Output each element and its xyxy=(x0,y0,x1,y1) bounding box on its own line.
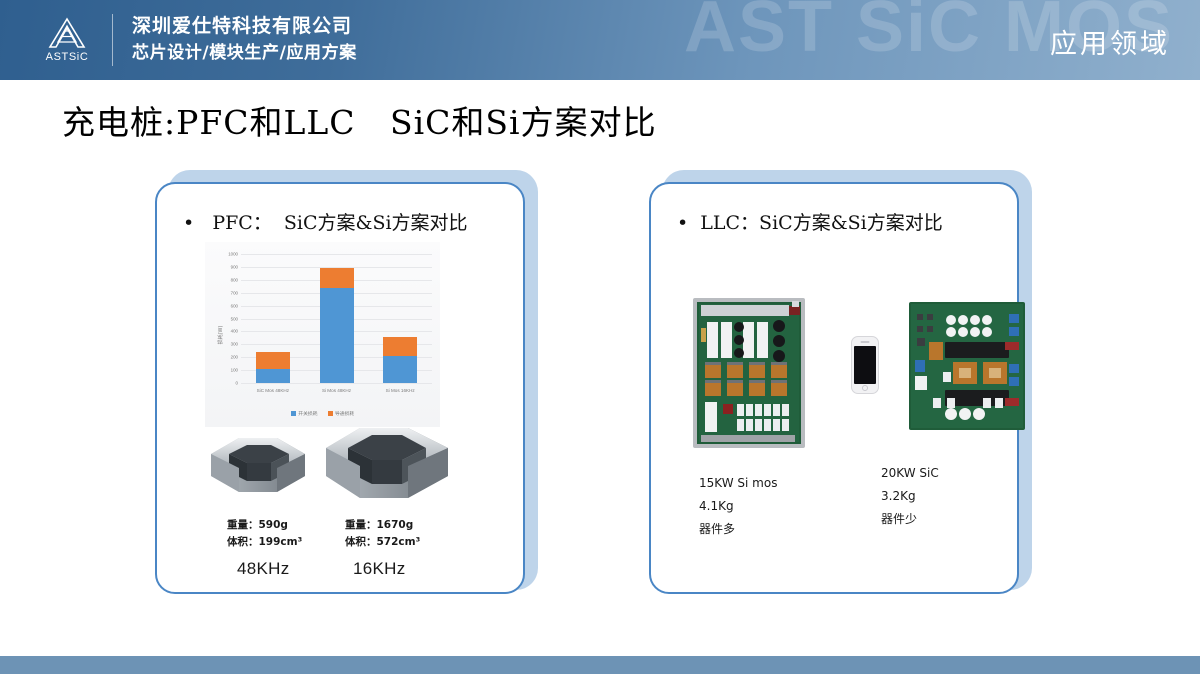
chart-ytick: 700 xyxy=(231,290,238,295)
core-large-volume: 体积：572cm³ xyxy=(345,534,420,550)
chart-ytick: 100 xyxy=(231,368,238,373)
si-board-power: 15KW Si mos xyxy=(699,472,777,495)
chart-bar-segment-conduction xyxy=(320,268,354,287)
chart-bar xyxy=(383,337,417,383)
sic-board-image xyxy=(909,302,1025,430)
company-name: 深圳爱仕特科技有限公司 xyxy=(132,13,357,41)
company-logo: ASTSiC xyxy=(36,10,98,70)
si-board-caption: 15KW Si mos 4.1Kg 器件多 xyxy=(699,472,777,540)
chart-bar-segment-conduction xyxy=(383,337,417,356)
slide-title: 充电桩:PFC和LLC SiC和Si方案对比 xyxy=(62,96,657,144)
page-header: AST SiC MOS ASTSiC 深圳爱仕特科技有限公司 芯片设计/模块生产… xyxy=(0,0,1200,80)
chart-bars: SiC Mos 48KHz Si Mos 48KHz Si Mos 16KHz xyxy=(241,254,432,383)
left-card-bullet: • PFC： SiC方案&Si方案对比 xyxy=(183,208,468,235)
right-card-llc[interactable]: • LLC：SiC方案&Si方案对比 xyxy=(649,182,1019,594)
company-info: 深圳爱仕特科技有限公司 芯片设计/模块生产/应用方案 xyxy=(132,13,357,65)
core-small-weight: 重量：590g xyxy=(227,517,288,533)
ferrite-core-large-image xyxy=(312,412,462,520)
section-title: 应用领域 xyxy=(1050,22,1170,61)
chart-bar-segment-switching xyxy=(320,288,354,383)
chart-ytick: 300 xyxy=(231,342,238,347)
chart-bar-segment-conduction xyxy=(256,352,290,369)
chart-ytick: 500 xyxy=(231,316,238,321)
chart-y-axis-label: 损耗(W) xyxy=(217,325,224,344)
chart-bar xyxy=(256,352,290,383)
sic-board-caption: 20KW SiC 3.2Kg 器件少 xyxy=(881,462,939,530)
si-mos-board-image xyxy=(693,292,805,450)
ast-triangle-logo-icon xyxy=(47,17,87,49)
phone-screen xyxy=(854,346,876,384)
header-divider xyxy=(112,14,113,66)
chart-ytick: 900 xyxy=(231,264,238,269)
si-board-weight: 4.1Kg xyxy=(699,495,777,518)
chart-ytick: 800 xyxy=(231,277,238,282)
page-footer-bar xyxy=(0,656,1200,674)
phone-speaker-icon xyxy=(861,341,870,343)
chart-xtick: Si Mos 48KHz xyxy=(322,388,351,393)
left-card-pfc[interactable]: • PFC： SiC方案&Si方案对比 损耗(W) 1000 900 800 7… xyxy=(155,182,525,594)
sic-board-power: 20KW SiC xyxy=(881,462,939,485)
sic-board-note: 器件少 xyxy=(881,508,939,531)
chart-bar-group: Si Mos 16KHz xyxy=(368,254,432,383)
phone-scale-reference-image xyxy=(851,336,879,394)
chart-xtick: Si Mos 16KHz xyxy=(386,388,415,393)
chart-bar-group: Si Mos 48KHz xyxy=(305,254,369,383)
ferrite-core-small-image xyxy=(199,424,319,514)
chart-bar-group: SiC Mos 48KHz xyxy=(241,254,305,383)
core-small-frequency: 48KHz xyxy=(237,559,290,579)
chart-bar-segment-switching xyxy=(256,369,290,383)
chart-ytick: 400 xyxy=(231,329,238,334)
right-card-bullet: • LLC：SiC方案&Si方案对比 xyxy=(677,208,943,235)
chart-ytick: 600 xyxy=(231,303,238,308)
chart-bar xyxy=(320,268,354,383)
company-subtitle: 芯片设计/模块生产/应用方案 xyxy=(132,41,357,66)
logo-wordmark: ASTSiC xyxy=(46,51,89,63)
chart-ytick: 0 xyxy=(236,381,238,386)
chart-ytick: 1000 xyxy=(228,252,238,257)
pfc-loss-bar-chart: 损耗(W) 1000 900 800 700 600 500 400 300 2… xyxy=(205,242,440,427)
legend-swatch-icon xyxy=(291,411,296,416)
chart-bar-segment-switching xyxy=(383,356,417,383)
core-large-weight: 重量：1670g xyxy=(345,517,413,533)
chart-xtick: SiC Mos 48KHz xyxy=(257,388,289,393)
phone-home-button-icon xyxy=(862,385,868,391)
si-board-note: 器件多 xyxy=(699,518,777,541)
chart-ytick: 200 xyxy=(231,355,238,360)
core-small-volume: 体积：199cm³ xyxy=(227,534,302,550)
sic-board-weight: 3.2Kg xyxy=(881,485,939,508)
chart-plot-area: 1000 900 800 700 600 500 400 300 200 100… xyxy=(241,254,432,383)
core-large-frequency: 16KHz xyxy=(353,559,406,579)
